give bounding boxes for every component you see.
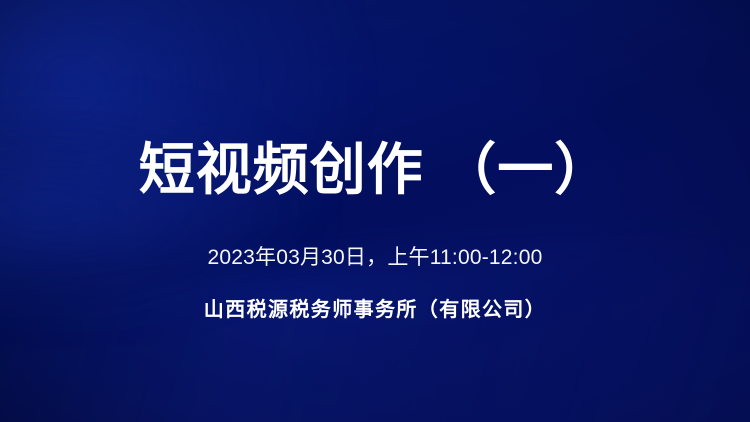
slide-organization: 山西税源税务师事务所（有限公司） [0, 297, 750, 324]
slide-content: 短视频创作 （一） 2023年03月30日，上午11:00-12:00 山西税源… [0, 0, 750, 422]
slide-title: 短视频创作 （一） [0, 139, 750, 201]
title-slide: 短视频创作 （一） 2023年03月30日，上午11:00-12:00 山西税源… [0, 0, 750, 422]
slide-date-time: 2023年03月30日，上午11:00-12:00 [0, 244, 750, 272]
